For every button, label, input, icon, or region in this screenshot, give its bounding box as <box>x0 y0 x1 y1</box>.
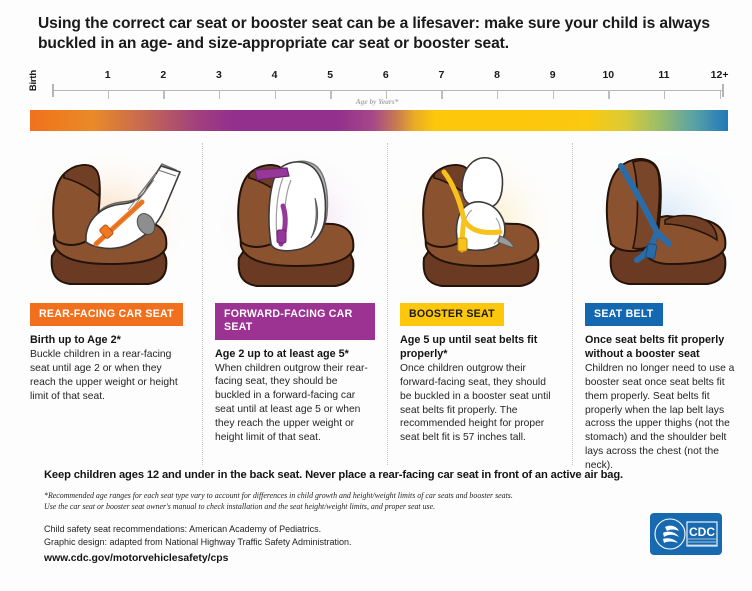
band-rear-facing: REAR-FACING CAR SEAT <box>30 303 183 327</box>
panel-forward-facing: FORWARD-FACING CAR SEAT Age 2 up to at l… <box>202 143 387 465</box>
footer-section: Keep children ages 12 and under in the b… <box>44 469 722 565</box>
heading-booster: Age 5 up until seat belts fit properly* <box>400 333 560 361</box>
heading-seat-belt: Once seat belts fit properly without a b… <box>585 333 745 361</box>
panel-rear-facing: REAR-FACING CAR SEAT Birth up to Age 2* … <box>18 143 202 465</box>
axis-tick-label: 4 <box>272 69 278 81</box>
cdc-url[interactable]: www.cdc.gov/motorvehiclesafety/cps <box>44 553 722 564</box>
infographic-page: Using the correct car seat or booster se… <box>0 0 752 591</box>
axis-cap-right <box>722 84 724 97</box>
heading-rear-facing: Birth up to Age 2* <box>30 333 190 347</box>
axis-tick-label: 7 <box>438 69 444 81</box>
page-title: Using the correct car seat or booster se… <box>38 14 718 55</box>
axis-tick <box>108 90 109 99</box>
axis-tick <box>330 90 331 99</box>
axis-tick-label: 6 <box>383 69 389 81</box>
rear-facing-seat-illustration <box>30 143 190 303</box>
booster-seat-illustration <box>400 143 560 303</box>
axis-tick <box>441 90 442 99</box>
text-seat-belt: Children no longer need to use a booster… <box>585 362 745 472</box>
band-booster: BOOSTER SEAT <box>400 303 504 327</box>
axis-tick-label: 12+ <box>711 69 729 81</box>
axis-tick <box>275 90 276 99</box>
axis-tick <box>219 90 220 99</box>
band-forward-facing: FORWARD-FACING CAR SEAT <box>215 303 375 340</box>
credit-line-2: Graphic design: adapted from National Hi… <box>44 536 722 549</box>
axis-line <box>52 90 724 92</box>
axis-tick-label: 1 <box>105 69 111 81</box>
axis-tick-label: 10 <box>602 69 614 81</box>
axis-tick <box>720 90 721 99</box>
footnote-line-2: Use the car seat or booster seat owner's… <box>44 501 722 512</box>
hhs-cdc-logo-icon: CDC <box>653 517 719 551</box>
axis-tick <box>497 90 498 99</box>
axis-tick-label: 8 <box>494 69 500 81</box>
panel-seat-belt: SEAT BELT Once seat belts fit properly w… <box>572 143 752 465</box>
footer-headline: Keep children ages 12 and under in the b… <box>44 469 722 481</box>
age-spectrum-bar <box>30 110 728 131</box>
cdc-logo: CDC <box>650 513 722 555</box>
age-scale: Birth 123456789101112+ Age by Years* <box>22 64 732 108</box>
axis-tick-label: 3 <box>216 69 222 81</box>
band-seat-belt: SEAT BELT <box>585 303 663 327</box>
axis-cap-left <box>52 84 54 97</box>
axis-caption: Age by Years* <box>356 97 399 106</box>
forward-facing-seat-illustration <box>215 143 375 303</box>
axis-tick-label: 5 <box>327 69 333 81</box>
axis-tick <box>163 90 164 99</box>
footnote-line-1: *Recommended age ranges for each seat ty… <box>44 490 722 501</box>
axis-tick <box>608 90 609 99</box>
axis-tick <box>664 90 665 99</box>
text-forward-facing: When children outgrow their rear-facing … <box>215 362 375 445</box>
credit-line-1: Child safety seat recommendations: Ameri… <box>44 523 722 536</box>
title-section: Using the correct car seat or booster se… <box>0 0 752 59</box>
panel-row: REAR-FACING CAR SEAT Birth up to Age 2* … <box>18 143 734 465</box>
text-rear-facing: Buckle children in a rear-facing seat un… <box>30 348 190 403</box>
axis-tick-label: 11 <box>658 69 669 81</box>
seat-belt-illustration <box>585 143 745 303</box>
panel-booster: BOOSTER SEAT Age 5 up until seat belts f… <box>387 143 572 465</box>
axis-tick <box>553 90 554 99</box>
axis-tick-label: 2 <box>160 69 166 81</box>
axis-tick-label: 9 <box>550 69 556 81</box>
birth-label: Birth <box>28 70 39 91</box>
cdc-logo-text: CDC <box>689 525 715 539</box>
heading-forward-facing: Age 2 up to at least age 5* <box>215 347 375 361</box>
text-booster: Once children outgrow their forward-faci… <box>400 362 560 445</box>
